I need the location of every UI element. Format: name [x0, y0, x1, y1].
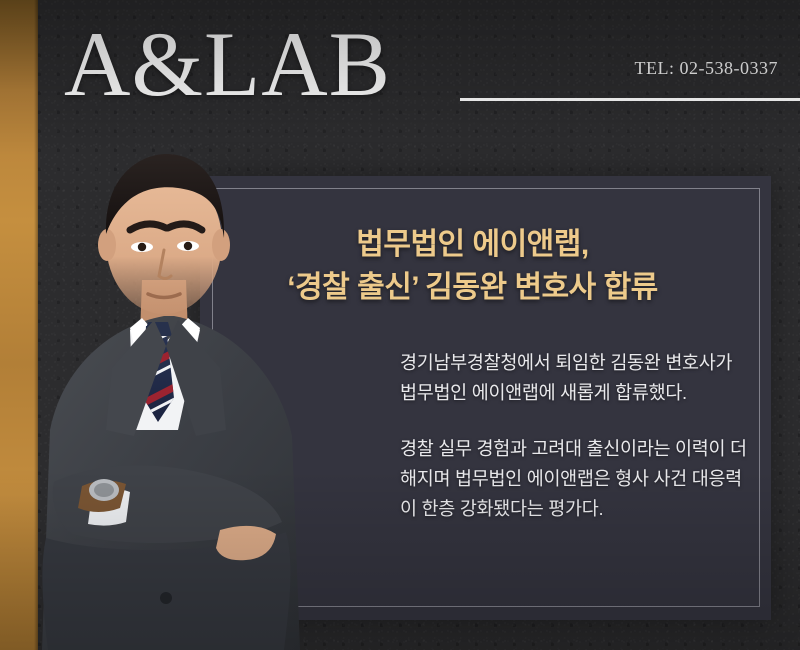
ear-left	[98, 229, 116, 261]
headline-line-1: 법무법인 에이앤랩,	[200, 224, 745, 267]
jacket-button	[160, 592, 172, 604]
tel-number: TEL: 02-538-0337	[635, 58, 778, 79]
promo-card: A&LAB TEL: 02-538-0337	[0, 0, 800, 650]
logo-underline-rule	[460, 98, 800, 101]
header: A&LAB TEL: 02-538-0337	[38, 0, 800, 150]
headline: 법무법인 에이앤랩, ‘경찰 출신’ 김동완 변호사 합류	[200, 224, 745, 309]
gold-accent-bar	[0, 0, 38, 650]
body-paragraph-1: 경기남부경찰청에서 퇴임한 김동완 변호사가 법무법인 에이앤랩에 새롭게 합류…	[400, 348, 750, 408]
brand-logo: A&LAB	[64, 18, 391, 110]
body-paragraph-2: 경찰 실무 경험과 고려대 출신이라는 이력이 더해지며 법무법인 에이앤랩은 …	[400, 434, 750, 524]
headline-line-2: ‘경찰 출신’ 김동완 변호사 합류	[200, 267, 745, 310]
body-copy: 경기남부경찰청에서 퇴임한 김동완 변호사가 법무법인 에이앤랩에 새롭게 합류…	[400, 348, 750, 524]
panel-content: 법무법인 에이앤랩, ‘경찰 출신’ 김동완 변호사 합류 경기남부경찰청에서 …	[200, 176, 771, 620]
